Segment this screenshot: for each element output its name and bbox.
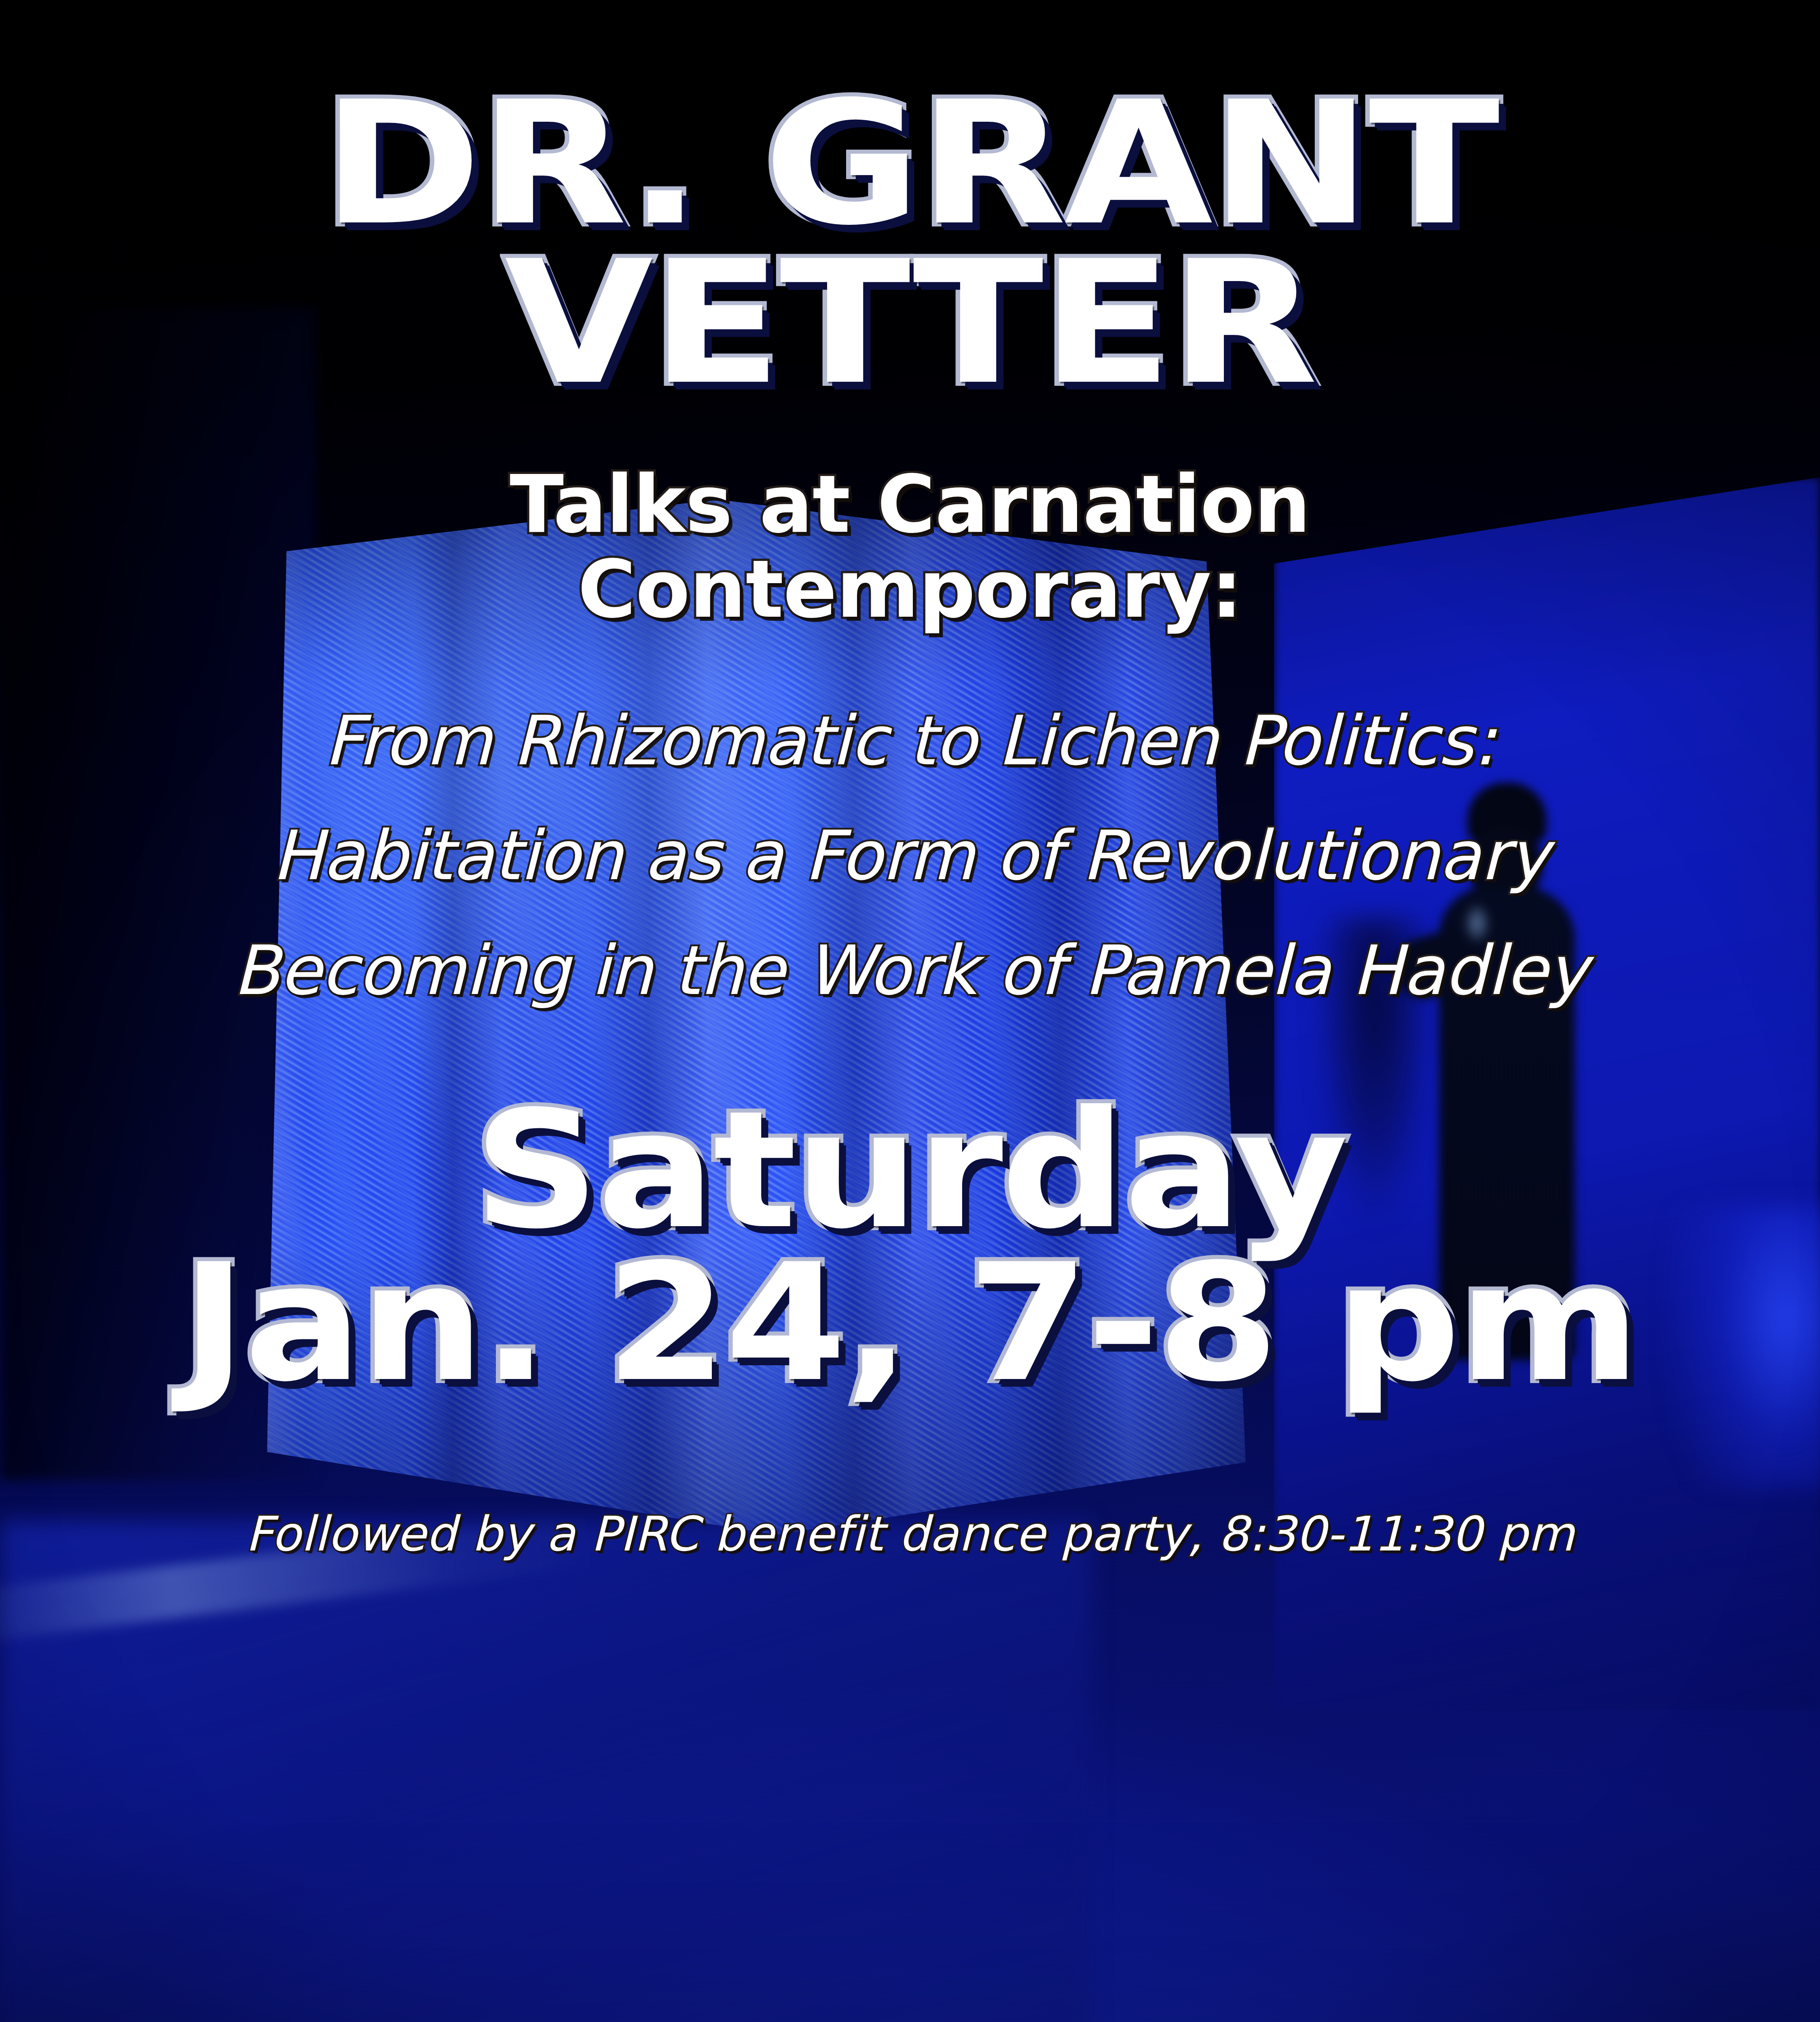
- event-date-time: Jan. 24, 7-8 pm: [182, 1249, 1638, 1398]
- talk-title-line-2: Habitation as a Form of Revolutionary: [272, 822, 1548, 890]
- speaker-name-line-1: DR. GRANT: [322, 86, 1498, 242]
- event-poster: DR. GRANT VETTER Talks at Carnation Cont…: [0, 0, 1820, 2022]
- talk-title-line-3: Becoming in the Work of Pamela Hadley: [233, 937, 1587, 1005]
- event-day: Saturday: [474, 1096, 1346, 1245]
- poster-content: DR. GRANT VETTER Talks at Carnation Cont…: [0, 0, 1820, 2022]
- series-subhead: Talks at Carnation Contemporary:: [510, 462, 1310, 632]
- speaker-name-line-2: VETTER: [504, 245, 1315, 401]
- talk-title-line-1: From Rhizomatic to Lichen Politics:: [324, 707, 1496, 775]
- series-subhead-line-1: Talks at Carnation: [510, 462, 1310, 547]
- afterparty-note: Followed by a PIRC benefit dance party, …: [245, 1506, 1575, 1562]
- series-subhead-line-2: Contemporary:: [510, 547, 1310, 632]
